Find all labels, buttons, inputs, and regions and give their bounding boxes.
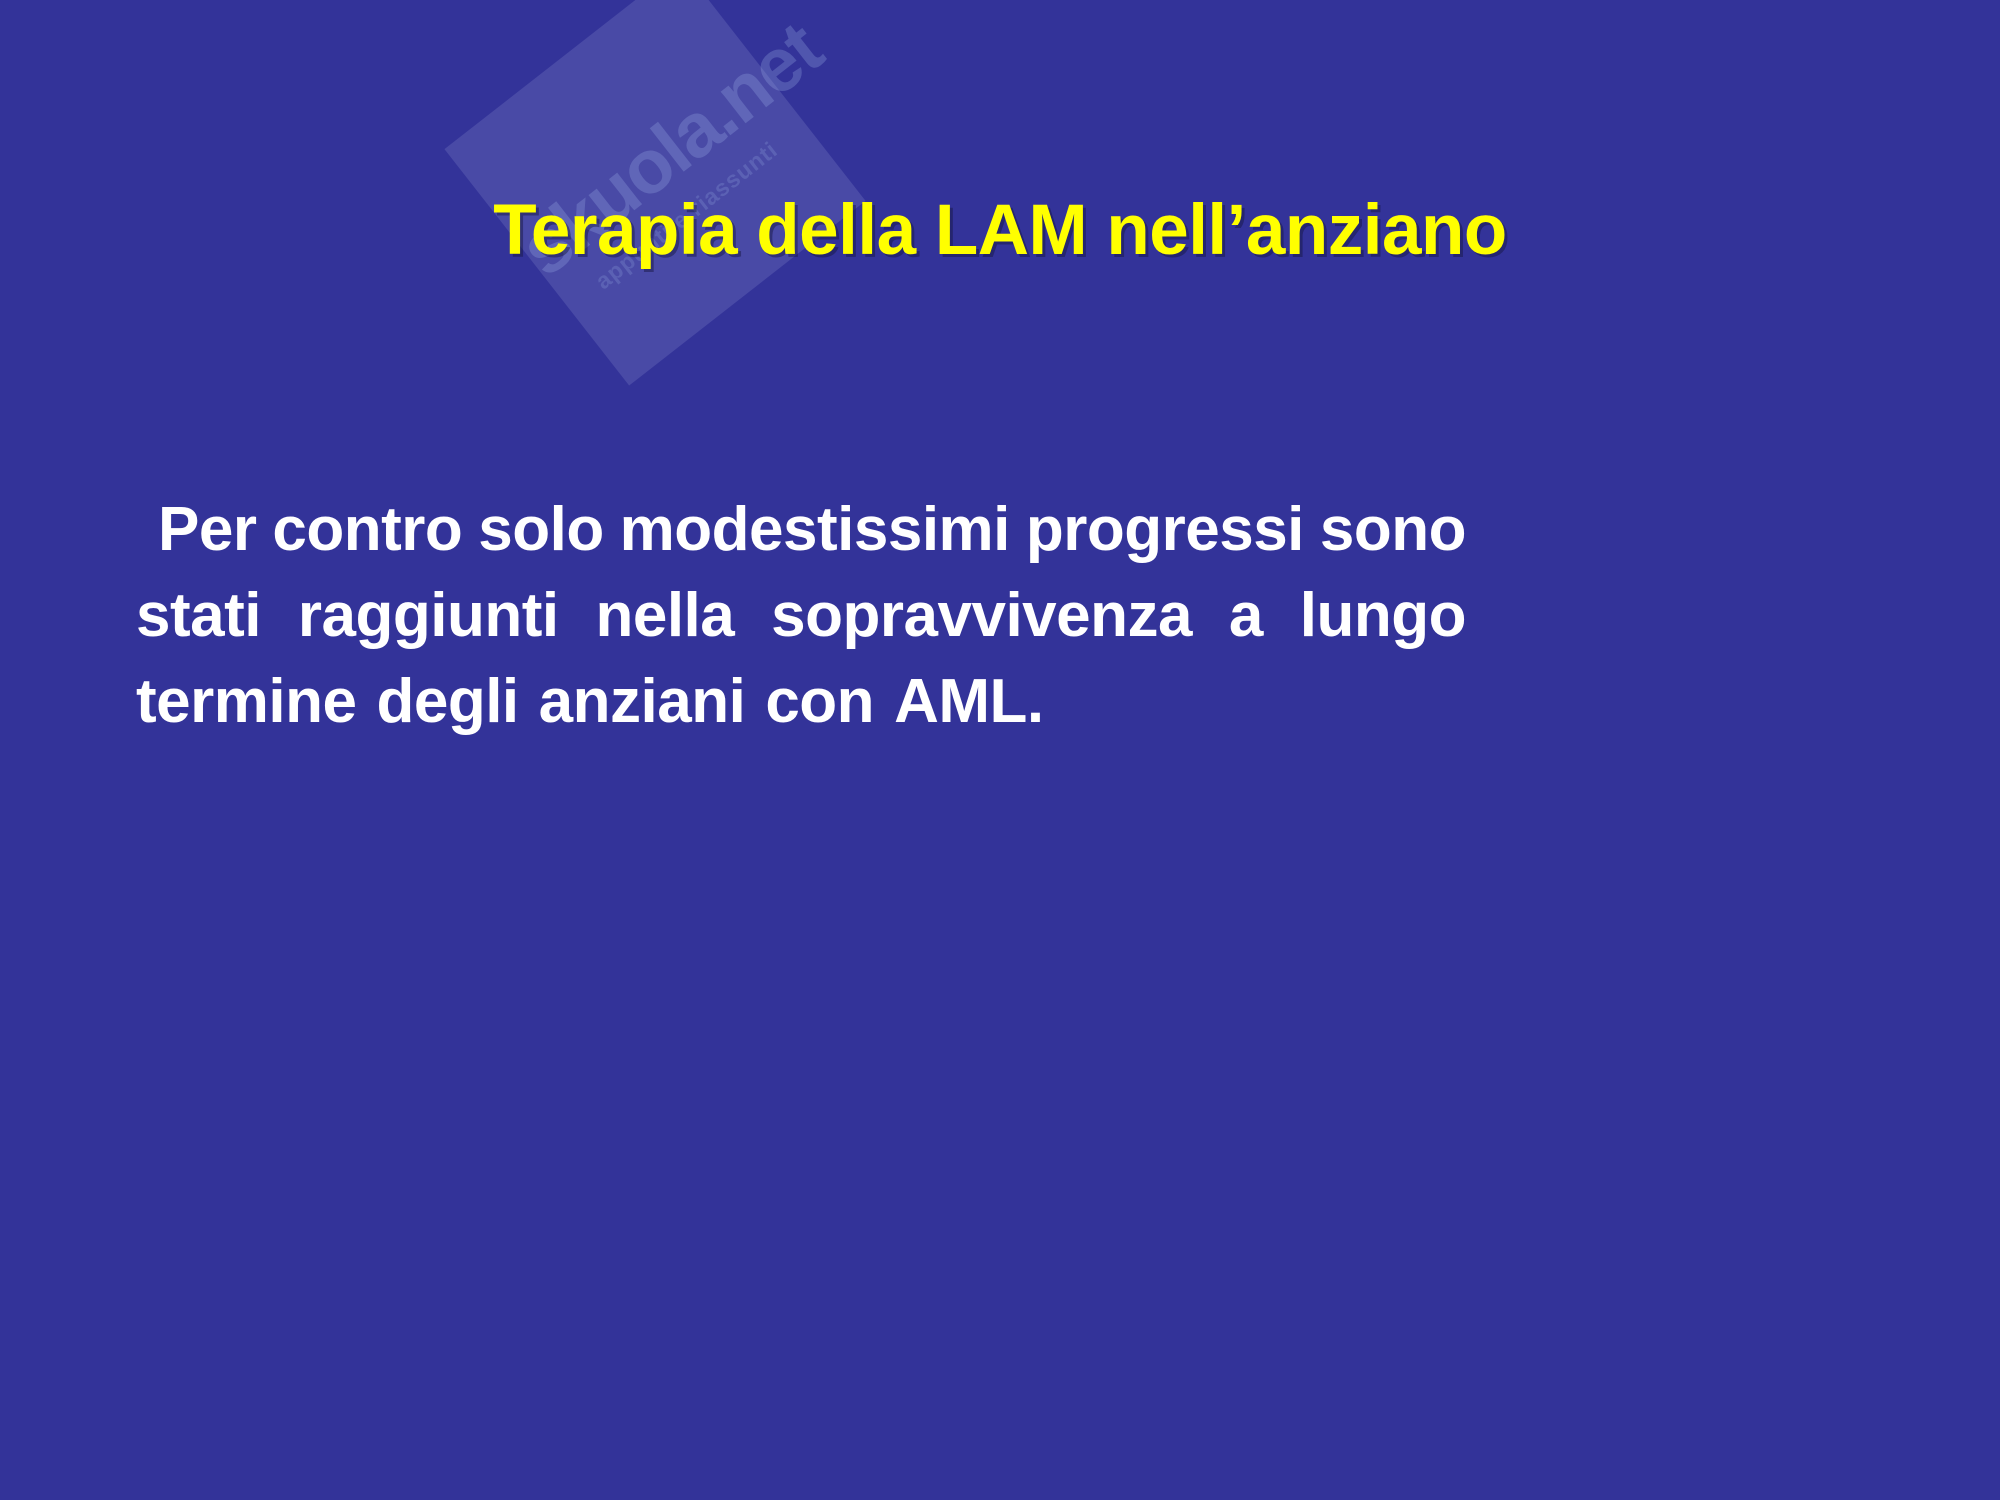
body-word: lungo xyxy=(1300,573,1466,659)
body-word: anziani xyxy=(539,659,746,745)
body-word: sono xyxy=(1320,487,1466,573)
slide-title: Terapia della LAM nell’anziano xyxy=(493,191,1506,271)
body-word: raggiunti xyxy=(298,573,559,659)
body-word: progressi xyxy=(1026,487,1304,573)
body-word: modestissimi xyxy=(620,487,1010,573)
slide-body-text: Per contro solo modestissimi progressi s… xyxy=(136,487,1466,745)
body-line: termine degli anziani con AML. xyxy=(136,659,1466,745)
body-word: contro xyxy=(272,487,462,573)
body-word: Per xyxy=(158,487,256,573)
body-line: Per contro solo modestissimi progressi s… xyxy=(136,487,1466,573)
body-word: a xyxy=(1229,573,1263,659)
body-word: sopravvivenza xyxy=(771,573,1192,659)
body-word: nella xyxy=(595,573,734,659)
body-word: AML. xyxy=(894,659,1044,745)
body-word: solo xyxy=(478,487,603,573)
slide-title-block: Terapia della LAM nell’anziano xyxy=(0,143,2000,318)
body-word: termine xyxy=(136,659,356,745)
presentation-slide: skuola.net appunti e riassunti Terapia d… xyxy=(0,0,2000,1500)
body-word: con xyxy=(765,659,874,745)
body-word: degli xyxy=(376,659,518,745)
body-word: stati xyxy=(136,573,261,659)
watermark-domain-suffix: .net xyxy=(684,6,837,151)
body-line: stati raggiunti nella sopravvivenza a lu… xyxy=(136,573,1466,659)
